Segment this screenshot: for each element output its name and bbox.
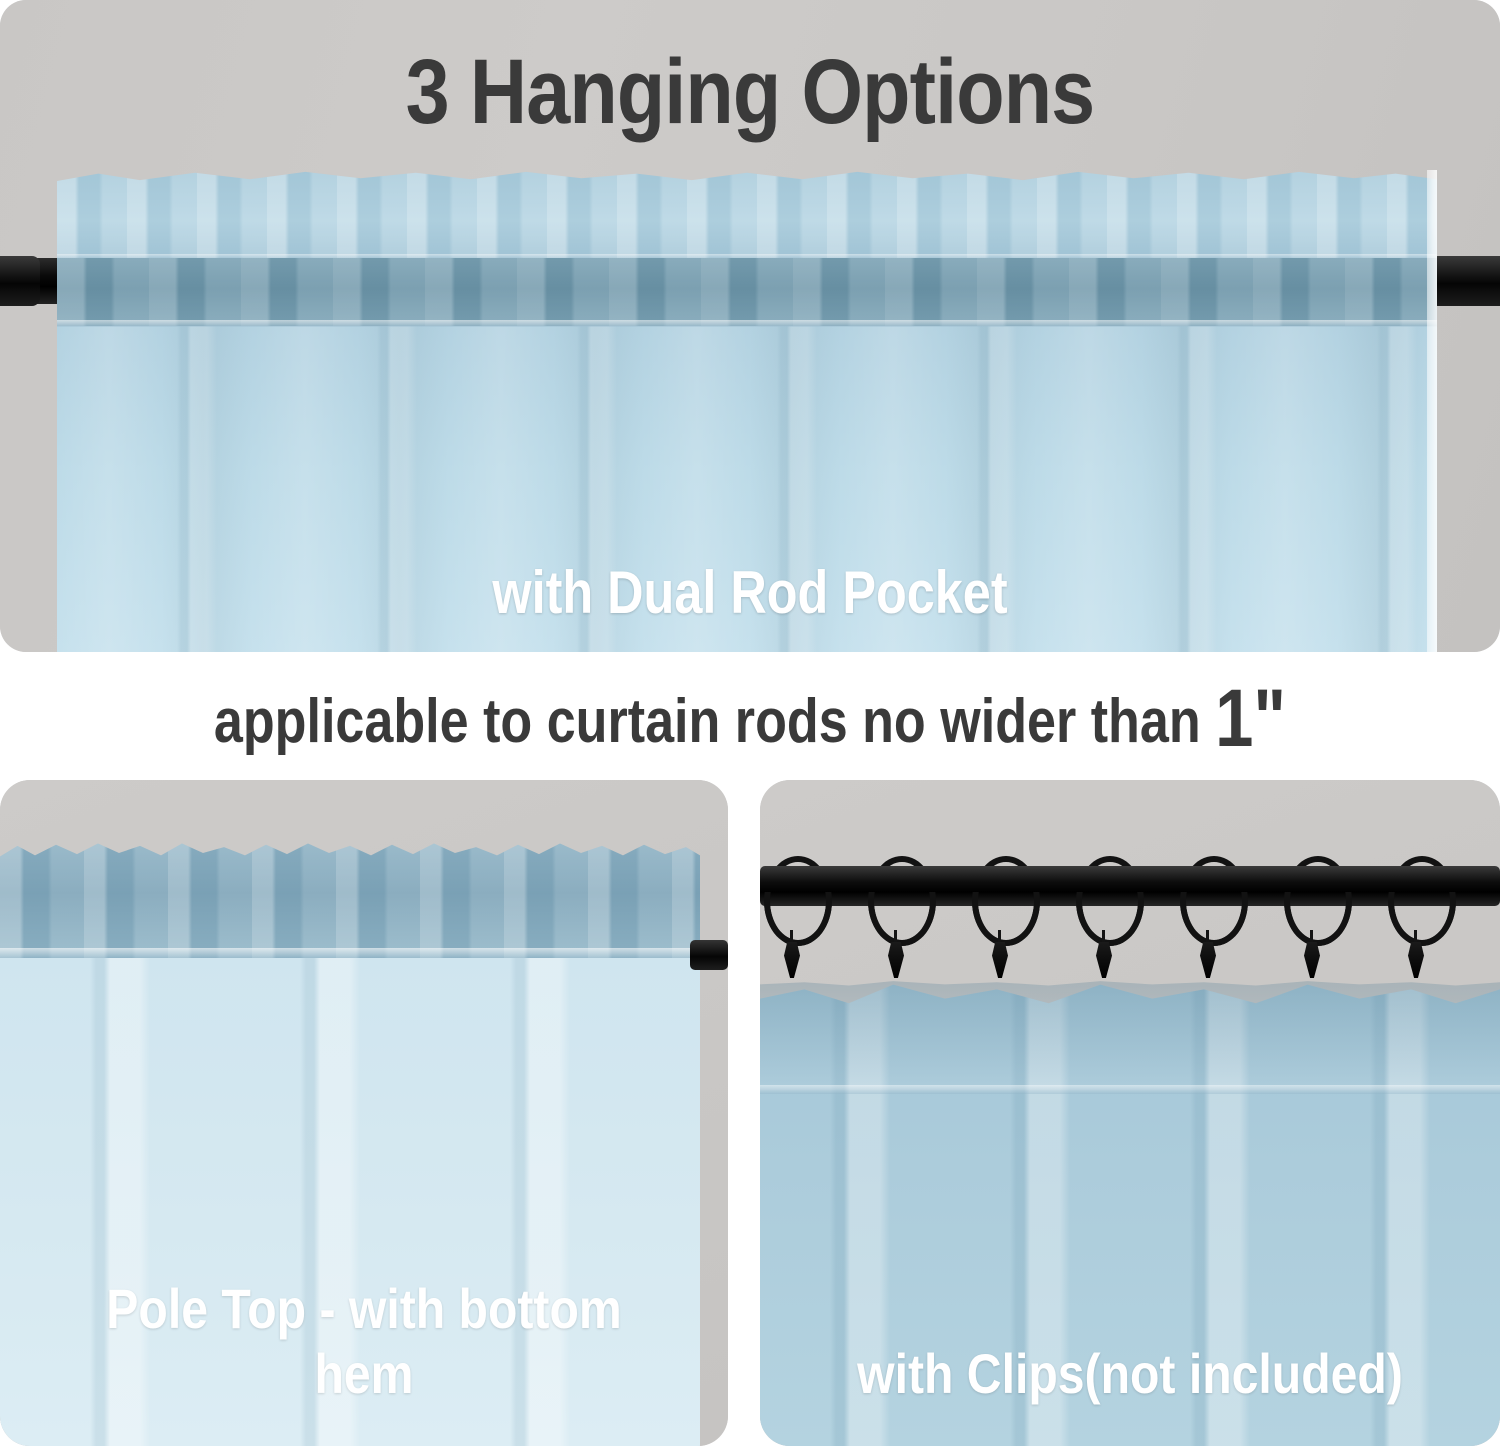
curtain-seam [0,948,700,958]
curtain-clip-stem-icon [1206,930,1209,944]
curtain-top-band [760,980,1500,1090]
panel-pole-top: Pole Top - with bottom hem [0,780,728,1446]
curtain-ruffle-top [57,170,1437,262]
curtain-clip-stem-icon [998,930,1001,944]
rod-width-measure: 1" [1215,673,1286,764]
curtain-clip-stem-icon [894,930,897,944]
top-panel-caption: with Dual Rod Pocket [120,558,1380,627]
infographic-canvas: 3 Hanging Options with Dual Rod Pocket a… [0,0,1500,1446]
panel-with-clips: with Clips(not included) [760,780,1500,1446]
curtain-rod-pocket-band [57,258,1437,326]
curtain-clip-stem-icon [1102,930,1105,944]
bottom-left-caption: Pole Top - with bottom hem [51,1276,677,1406]
curtain-clip-stem-icon [790,930,793,944]
curtain-seam [760,1085,1500,1094]
rod-width-note-text: applicable to curtain rods no wider than [214,687,1201,756]
curtain-clip-stem-icon [1310,930,1313,944]
curtain-rod-end-left-icon [0,256,40,306]
curtain-rod-end-right-icon [1430,256,1500,306]
rod-width-note: applicable to curtain rods no wider than… [120,672,1380,766]
panel-dual-rod-pocket: 3 Hanging Options with Dual Rod Pocket [0,0,1500,652]
curtain-pole-top-header [0,840,700,958]
page-title: 3 Hanging Options [105,40,1395,145]
bottom-right-caption: with Clips(not included) [812,1341,1448,1406]
curtain-right-edge [1427,170,1437,652]
curtain-clip-stem-icon [1414,930,1417,944]
curtain-rod-end-icon [690,940,728,970]
curtain-seam-lower [57,320,1437,327]
